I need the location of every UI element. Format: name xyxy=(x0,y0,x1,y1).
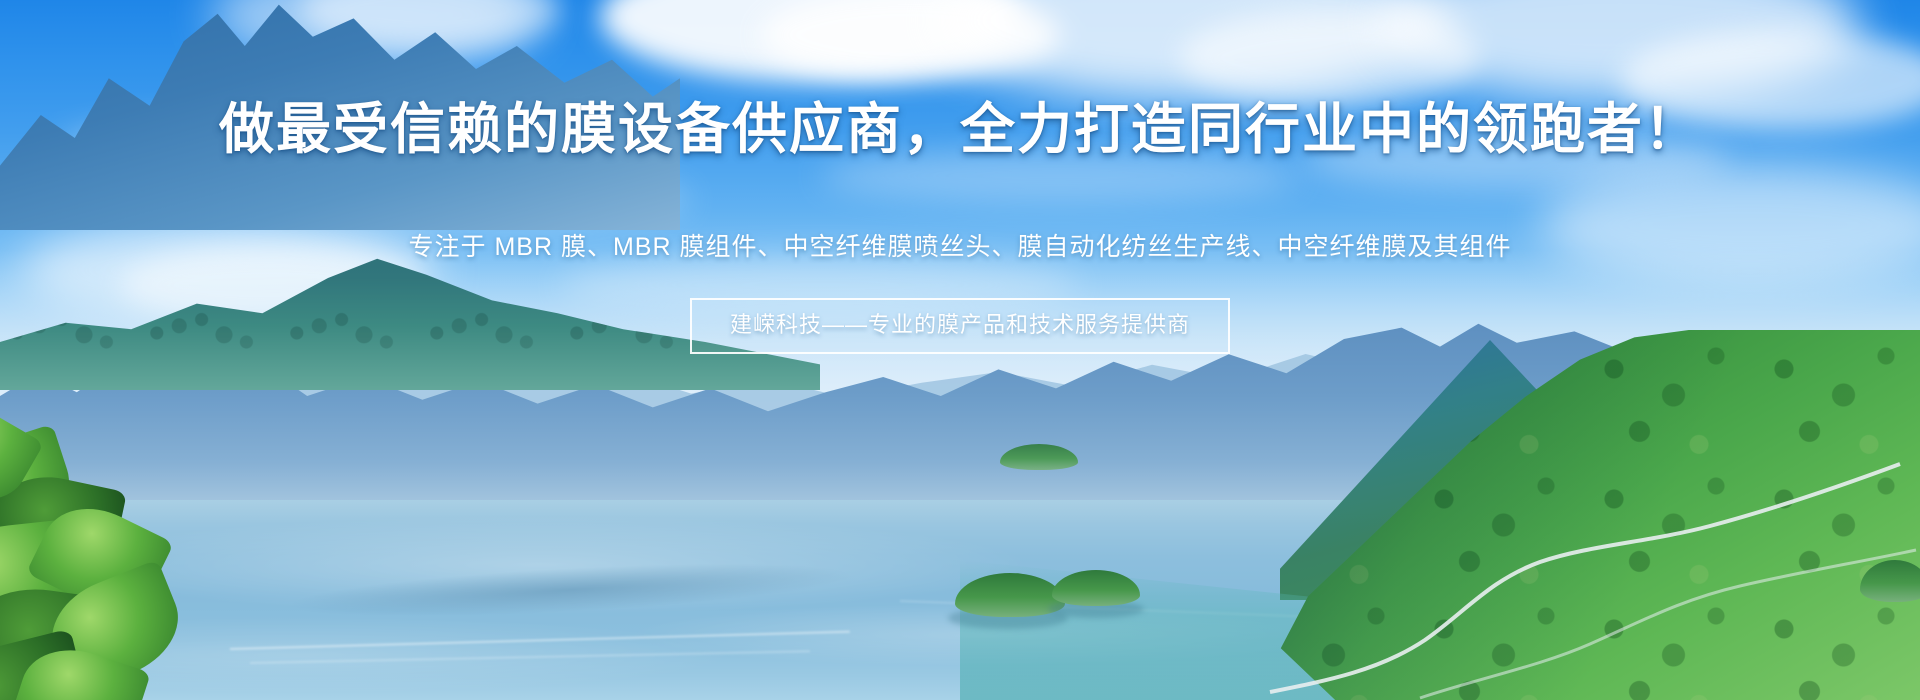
winding-road xyxy=(1240,430,1920,700)
banner-subheadline: 专注于 MBR 膜、MBR 膜组件、中空纤维膜喷丝头、膜自动化纺丝生产线、中空纤… xyxy=(0,230,1920,264)
banner-headline: 做最受信赖的膜设备供应商，全力打造同行业中的领跑者！ xyxy=(0,97,1920,161)
hero-banner: 做最受信赖的膜设备供应商，全力打造同行业中的领跑者！ 专注于 MBR 膜、MBR… xyxy=(0,0,1920,700)
company-tagline-box: 建嵘科技——专业的膜产品和技术服务提供商 xyxy=(690,298,1230,354)
foreground-tree xyxy=(0,430,240,700)
